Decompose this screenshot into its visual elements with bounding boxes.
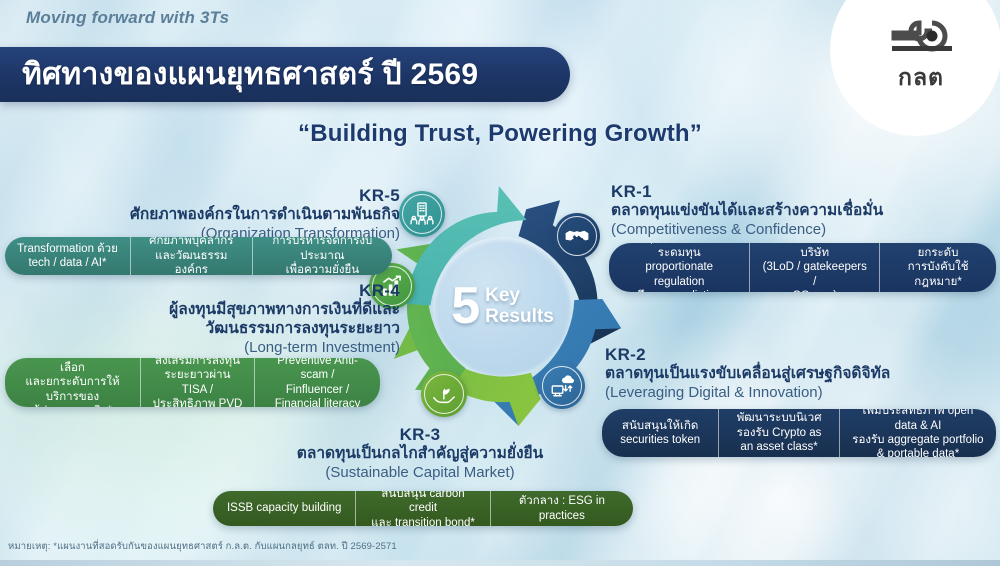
page-title: ทิศทางของแผนยุทธศาสตร์ ปี 2569 <box>22 51 478 98</box>
kr-1-heading: KR-1 ตลาดทุนแข่งขันได้และสร้างความเชื่อม… <box>611 182 996 240</box>
kr-5-item-2[interactable]: ศักยภาพบุคลากรและวัฒนธรรมองค์กร <box>130 237 252 275</box>
kr-4-item-1[interactable]: ส่งเสริมผลิตภัณฑ์ทางเลือกและยกระดับการให… <box>5 358 140 407</box>
kr-4-title-en: (Long-term Investment) <box>40 339 400 358</box>
kr-1-id: KR-1 <box>611 182 996 202</box>
kr-1-item-1[interactable]: ลดอุปสรรคของการระดมทุนproportionate regu… <box>609 243 749 292</box>
kr-2-id: KR-2 <box>605 345 995 365</box>
kr-2-initiatives: สนับสนุนให้เกิดsecurities token พัฒนาระบ… <box>602 409 996 457</box>
kr-2-heading: KR-2 ตลาดทุนเป็นแรงขับเคลื่อนสู่เศรษฐกิจ… <box>605 345 995 403</box>
key-results-line2: Results <box>485 307 554 327</box>
slogan: “Building Trust, Powering Growth” <box>0 120 1000 148</box>
kr-4-id: KR-4 <box>40 281 400 301</box>
kr-3-heading: KR-3 ตลาดทุนเป็นกลไกสำคัญสู่ความยั่งยืน … <box>245 425 595 483</box>
key-results-count: 5 <box>451 283 480 330</box>
kr-5-item-3[interactable]: การบริหารจัดการงบประมาณเพื่อความยั่งยืน <box>252 237 392 275</box>
kr-4-item-2[interactable]: ส่งเสริมการลงทุนระยะยาวผ่าน TISA /ประสิท… <box>140 358 254 407</box>
kr-1-item-3[interactable]: ยกระดับการบังคับใช้กฎหมาย* <box>879 243 996 292</box>
kr-2-title-th: ตลาดทุนเป็นแรงขับเคลื่อนสู่เศรษฐกิจดิจิท… <box>605 365 995 384</box>
kr-5-item-1[interactable]: Transformation ด้วยtech / data / AI* <box>5 237 130 275</box>
kr-3-title-th: ตลาดทุนเป็นกลไกสำคัญสู่ความยั่งยืน <box>245 445 595 464</box>
sec-logo: กลต <box>862 14 980 100</box>
kr-4-item-3[interactable]: Preventive Anti-scam /Finfluencer /Finan… <box>254 358 380 407</box>
tagline: Moving forward with 3Ts <box>26 8 229 28</box>
kr-3-title-en: (Sustainable Capital Market) <box>245 464 595 483</box>
kr-4-heading: KR-4 ผู้ลงทุนมีสุขภาพทางการเงินที่ดีและว… <box>40 281 400 358</box>
kr-5-id: KR-5 <box>70 186 400 206</box>
sec-logo-glyph <box>884 19 958 59</box>
kr-5-heading: KR-5 ศักยภาพองค์กรในการดำเนินตามพันธกิจ … <box>70 186 400 244</box>
wheel-hub-label: 5 Key Results <box>433 237 572 376</box>
page-title-banner: ทิศทางของแผนยุทธศาสตร์ ปี 2569 <box>0 47 570 102</box>
five-key-results-wheel: 5 Key Results <box>381 185 624 428</box>
kr-2-item-2[interactable]: พัฒนาระบบนิเวศรองรับ Crypto asan asset c… <box>718 409 839 457</box>
kr-5-title-th: ศักยภาพองค์กรในการดำเนินตามพันธกิจ <box>70 206 400 225</box>
cloud-computer-icon <box>539 363 585 409</box>
sec-logo-text: กลต <box>898 60 944 96</box>
handshake-icon <box>554 213 600 259</box>
kr-3-id: KR-3 <box>245 425 595 445</box>
kr-3-item-1[interactable]: ISSB capacity building <box>213 491 355 526</box>
footnote: หมายเหตุ: *แผนงานที่สอดรับกันของแผนยุทธศ… <box>8 539 397 554</box>
building-people-icon <box>399 191 445 237</box>
kr-4-initiatives: ส่งเสริมผลิตภัณฑ์ทางเลือกและยกระดับการให… <box>5 358 380 407</box>
kr-3-item-2[interactable]: สนับสนุน carbon creditและ transition bon… <box>355 491 489 526</box>
kr-3-initiatives: ISSB capacity building สนับสนุน carbon c… <box>213 491 633 526</box>
kr-3-item-3[interactable]: ตัวกลาง : ESG in practices <box>490 491 633 526</box>
kr-2-item-3[interactable]: เพิ่มประสิทธิภาพ open data & AIรองรับ ag… <box>839 409 996 457</box>
kr-1-item-2[interactable]: ยกระดับธรรมาภิบาลบริษัท(3LoD / gatekeepe… <box>749 243 879 292</box>
kr-2-item-1[interactable]: สนับสนุนให้เกิดsecurities token <box>602 409 718 457</box>
plant-hand-icon <box>421 371 467 417</box>
infographic-canvas: กลต Moving forward with 3Ts ทิศทางของแผน… <box>0 0 1000 566</box>
key-results-line1: Key <box>485 286 554 306</box>
kr-1-title-th: ตลาดทุนแข่งขันได้และสร้างความเชื่อมั่น <box>611 202 996 221</box>
kr-4-title-th: ผู้ลงทุนมีสุขภาพทางการเงินที่ดีและวัฒนธร… <box>40 301 400 339</box>
kr-1-initiatives: ลดอุปสรรคของการระดมทุนproportionate regu… <box>609 243 996 292</box>
kr-5-initiatives: Transformation ด้วยtech / data / AI* ศัก… <box>5 237 392 275</box>
bottom-bar <box>0 560 1000 566</box>
kr-2-title-en: (Leveraging Digital & Innovation) <box>605 384 995 403</box>
kr-1-title-en: (Competitiveness & Confidence) <box>611 221 996 240</box>
